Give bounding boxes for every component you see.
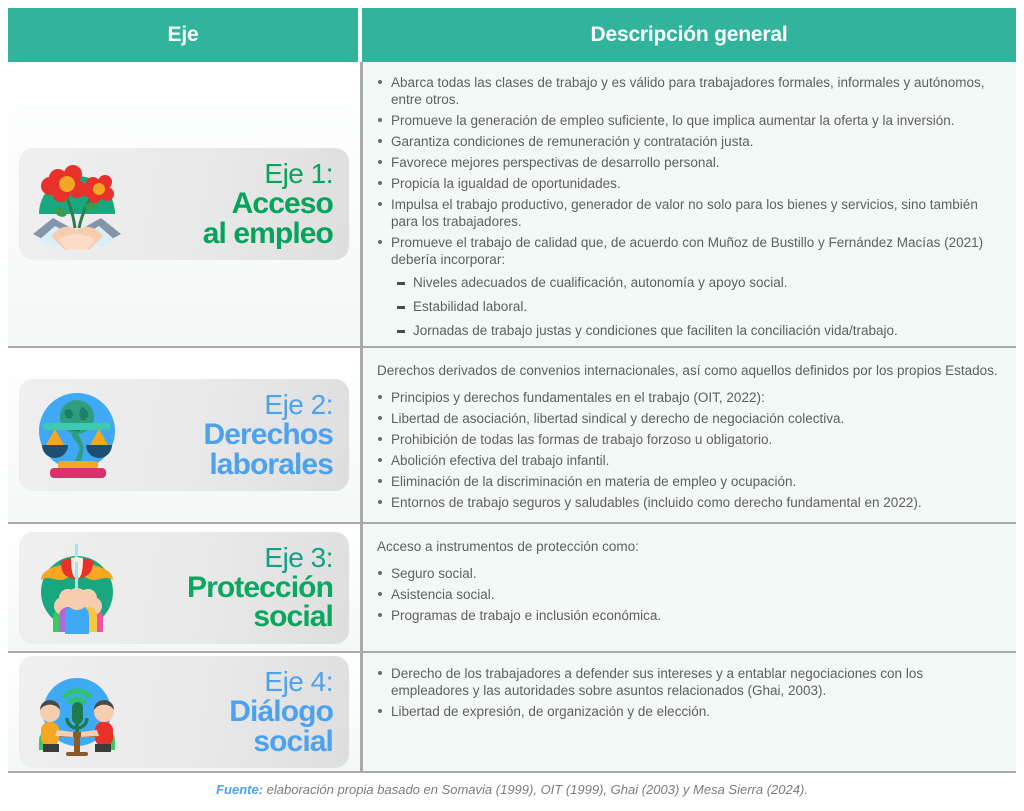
sub-list-item: Jornadas de trabajo justas y condiciones… <box>397 322 1000 339</box>
source-text: elaboración propia basado en Somavia (19… <box>267 782 808 797</box>
umbrella-people-icon <box>25 536 129 640</box>
eje-name-line2: social <box>129 602 333 631</box>
eje-name-line1: Diálogo <box>129 697 333 726</box>
eje-cell: Eje 4: Diálogo social <box>8 653 360 771</box>
descripcion-cell: Abarca todas las clases de trabajo y es … <box>363 62 1016 346</box>
descripcion-cell: Acceso a instrumentos de protección como… <box>363 524 1016 651</box>
eje-number: Eje 1: <box>129 160 333 188</box>
sub-list-item: Estabilidad laboral. <box>397 298 1000 315</box>
lead-text: Acceso a instrumentos de protección como… <box>377 538 1000 555</box>
list-item: Promueve el trabajo de calidad que, de a… <box>373 234 1000 268</box>
eje-number: Eje 3: <box>129 544 333 572</box>
list-item: Eliminación de la discriminación en mate… <box>373 473 1000 490</box>
list-item: Derecho de los trabajadores a defender s… <box>373 665 1000 699</box>
eje-name-line1: Acceso <box>129 189 333 218</box>
bullet-list: Derecho de los trabajadores a defender s… <box>373 665 1000 720</box>
eje-badge-text: Eje 3: Protección social <box>129 544 339 631</box>
list-item: Favorece mejores perspectivas de desarro… <box>373 154 1000 171</box>
list-item: Libertad de asociación, libertad sindica… <box>373 410 1000 427</box>
eje-badge-3[interactable]: Eje 3: Protección social <box>19 532 349 644</box>
eje-name: Acceso al empleo <box>129 189 333 247</box>
list-item: Abolición efectiva del trabajo infantil. <box>373 452 1000 469</box>
scales-globe-icon <box>25 383 129 487</box>
handshake-flowers-icon <box>25 152 129 256</box>
list-item: Garantiza condiciones de remuneración y … <box>373 133 1000 150</box>
table-body: Eje 1: Acceso al empleo Abarca todas las… <box>8 62 1016 775</box>
list-item: Abarca todas las clases de trabajo y es … <box>373 74 1000 108</box>
eje-number: Eje 4: <box>129 668 333 696</box>
eje-badge-2[interactable]: Eje 2: Derechos laborales <box>19 379 349 491</box>
list-item: Propicia la igualdad de oportunidades. <box>373 175 1000 192</box>
source-note: Fuente: elaboración propia basado en Som… <box>0 782 1024 797</box>
eje-badge-text: Eje 1: Acceso al empleo <box>129 160 339 247</box>
column-header-eje: Eje <box>8 8 358 62</box>
list-item: Programas de trabajo e inclusión económi… <box>373 607 1000 624</box>
sub-bullet-list: Niveles adecuados de cualificación, auto… <box>373 274 1000 339</box>
table-row: Eje 2: Derechos laborales Derechos deriv… <box>8 348 1016 524</box>
list-item: Principios y derechos fundamentales en e… <box>373 389 1000 406</box>
ejes-table: Eje Descripción general <box>0 0 1024 811</box>
eje-badge-text: Eje 2: Derechos laborales <box>129 391 339 478</box>
eje-name: Diálogo social <box>129 697 333 755</box>
list-item: Prohibición de todas las formas de traba… <box>373 431 1000 448</box>
list-item: Seguro social. <box>373 565 1000 582</box>
eje-name: Protección social <box>129 573 333 631</box>
list-item: Asistencia social. <box>373 586 1000 603</box>
list-item: Impulsa el trabajo productivo, generador… <box>373 196 1000 230</box>
eje-cell: Eje 1: Acceso al empleo <box>8 62 360 346</box>
lead-text: Derechos derivados de convenios internac… <box>377 362 1000 379</box>
list-item: Entornos de trabajo seguros y saludables… <box>373 494 1000 511</box>
eje-cell: Eje 3: Protección social <box>8 524 360 651</box>
bullet-list: Principios y derechos fundamentales en e… <box>373 389 1000 511</box>
sub-list-item: Niveles adecuados de cualificación, auto… <box>397 274 1000 291</box>
eje-name-line2: laborales <box>129 450 333 479</box>
eje-name-line1: Derechos <box>129 420 333 449</box>
table-header-row: Eje Descripción general <box>8 8 1016 62</box>
eje-name-line2: social <box>129 727 333 756</box>
eje-number: Eje 2: <box>129 391 333 419</box>
table-row: Eje 1: Acceso al empleo Abarca todas las… <box>8 62 1016 348</box>
eje-badge-4[interactable]: Eje 4: Diálogo social <box>19 656 349 768</box>
table-row: Eje 3: Protección social Acceso a instru… <box>8 524 1016 653</box>
list-item: Libertad de expresión, de organización y… <box>373 703 1000 720</box>
descripcion-cell: Derechos derivados de convenios internac… <box>363 348 1016 522</box>
column-header-descripcion: Descripción general <box>362 8 1016 62</box>
eje-name-line2: al empleo <box>129 219 333 248</box>
eje-cell: Eje 2: Derechos laborales <box>8 348 360 522</box>
eje-badge-1[interactable]: Eje 1: Acceso al empleo <box>19 148 349 260</box>
table-row: Eje 4: Diálogo social Derecho de los tra… <box>8 653 1016 773</box>
source-label: Fuente: <box>216 782 263 797</box>
eje-badge-text: Eje 4: Diálogo social <box>129 668 339 755</box>
bullet-list: Seguro social. Asistencia social. Progra… <box>373 565 1000 624</box>
descripcion-cell: Derecho de los trabajadores a defender s… <box>363 653 1016 771</box>
dialogue-table-microphone-icon <box>25 660 129 764</box>
bullet-list: Abarca todas las clases de trabajo y es … <box>373 74 1000 268</box>
eje-name-line1: Protección <box>129 573 333 602</box>
eje-name: Derechos laborales <box>129 420 333 478</box>
list-item: Promueve la generación de empleo suficie… <box>373 112 1000 129</box>
